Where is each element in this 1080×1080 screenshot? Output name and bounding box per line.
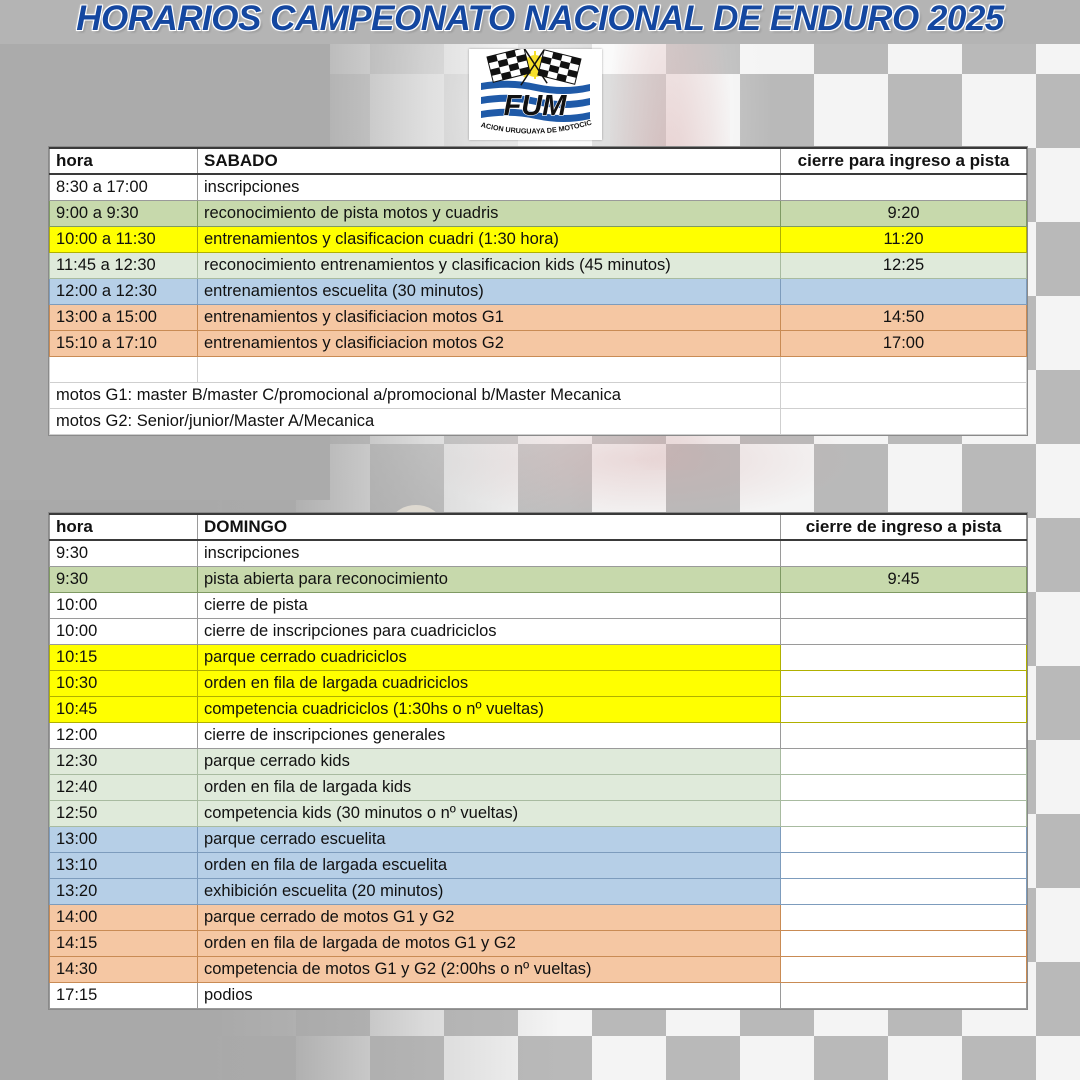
column-header-hora: hora [50, 514, 198, 540]
table-row: 13:20exhibición escuelita (20 minutos) [50, 878, 1027, 904]
table-row: 8:30 a 17:00 inscripciones [50, 174, 1027, 200]
cell-hora: 10:45 [50, 696, 198, 722]
table-row: 9:00 a 9:30 reconocimiento de pista moto… [50, 200, 1027, 226]
table-row: 14:00parque cerrado de motos G1 y G2 [50, 904, 1027, 930]
table-row: 12:00cierre de inscripciones generales [50, 722, 1027, 748]
cell-cierre [781, 956, 1027, 982]
cell-hora: 14:00 [50, 904, 198, 930]
column-header-hora: hora [50, 148, 198, 174]
cell-cierre: 11:20 [781, 226, 1027, 252]
cell-cierre [781, 618, 1027, 644]
cell-hora: 13:20 [50, 878, 198, 904]
table-header-row: hora DOMINGO cierre de ingreso a pista [50, 514, 1027, 540]
sabado-schedule-sheet: hora SABADO cierre para ingreso a pista … [48, 146, 1028, 436]
table-row: 15:10 a 17:10 entrenamientos y clasifici… [50, 330, 1027, 356]
cell-hora: 10:00 [50, 618, 198, 644]
cell-actividad: parque cerrado kids [198, 748, 781, 774]
cell-cierre [781, 696, 1027, 722]
cell-cierre [781, 774, 1027, 800]
note-row: motos G2: Senior/junior/Master A/Mecanic… [50, 408, 1027, 434]
table-row: 10:30orden en fila de largada cuadricicl… [50, 670, 1027, 696]
cell-cierre: 12:25 [781, 252, 1027, 278]
cell-hora: 9:30 [50, 566, 198, 592]
column-header-domingo: DOMINGO [198, 514, 781, 540]
table-row: 10:00cierre de inscripciones para cuadri… [50, 618, 1027, 644]
cell-actividad: reconocimiento entrenamientos y clasific… [198, 252, 781, 278]
cell-cierre [781, 174, 1027, 200]
cell-hora: 8:30 a 17:00 [50, 174, 198, 200]
cell-hora: 9:00 a 9:30 [50, 200, 198, 226]
sabado-schedule-table: hora SABADO cierre para ingreso a pista … [49, 147, 1027, 435]
cell-actividad: entrenamientos escuelita (30 minutos) [198, 278, 781, 304]
cell-cierre: 14:50 [781, 304, 1027, 330]
cell-actividad: competencia kids (30 minutos o nº vuelta… [198, 800, 781, 826]
column-header-cierre: cierre de ingreso a pista [781, 514, 1027, 540]
cell-hora: 15:10 a 17:10 [50, 330, 198, 356]
table-row: 9:30inscripciones [50, 540, 1027, 566]
table-spacer-row [50, 356, 1027, 382]
cell-cierre [781, 540, 1027, 566]
note-motos-g2: motos G2: Senior/junior/Master A/Mecanic… [50, 408, 781, 434]
cell-actividad: podios [198, 982, 781, 1008]
cell-hora: 9:30 [50, 540, 198, 566]
table-row: 11:45 a 12:30 reconocimiento entrenamien… [50, 252, 1027, 278]
cell-hora: 14:15 [50, 930, 198, 956]
cell-hora: 10:30 [50, 670, 198, 696]
column-header-sabado: SABADO [198, 148, 781, 174]
domingo-schedule-table: hora DOMINGO cierre de ingreso a pista 9… [49, 513, 1027, 1009]
cell-actividad: entrenamientos y clasificiacion motos G2 [198, 330, 781, 356]
note-filler [781, 382, 1027, 408]
cell-actividad: cierre de inscripciones para cuadriciclo… [198, 618, 781, 644]
cell-cierre [781, 852, 1027, 878]
cell-actividad: parque cerrado escuelita [198, 826, 781, 852]
cell-actividad [198, 356, 781, 382]
table-row: 13:00 a 15:00 entrenamientos y clasifici… [50, 304, 1027, 330]
cell-hora: 17:15 [50, 982, 198, 1008]
cell-actividad: competencia cuadriciclos (1:30hs o nº vu… [198, 696, 781, 722]
cell-actividad: orden en fila de largada cuadriciclos [198, 670, 781, 696]
cell-actividad: cierre de pista [198, 592, 781, 618]
cell-cierre [781, 826, 1027, 852]
table-row: 14:15orden en fila de largada de motos G… [50, 930, 1027, 956]
cell-actividad: orden en fila de largada de motos G1 y G… [198, 930, 781, 956]
cell-cierre: 9:45 [781, 566, 1027, 592]
cell-cierre: 17:00 [781, 330, 1027, 356]
cell-cierre [781, 722, 1027, 748]
cell-hora: 12:00 a 12:30 [50, 278, 198, 304]
cell-hora: 12:30 [50, 748, 198, 774]
cell-cierre [781, 670, 1027, 696]
table-row: 12:40orden en fila de largada kids [50, 774, 1027, 800]
cell-actividad: exhibición escuelita (20 minutos) [198, 878, 781, 904]
table-row: 12:30parque cerrado kids [50, 748, 1027, 774]
table-row: 14:30competencia de motos G1 y G2 (2:00h… [50, 956, 1027, 982]
cell-cierre [781, 982, 1027, 1008]
cell-cierre [781, 904, 1027, 930]
cell-actividad: pista abierta para reconocimiento [198, 566, 781, 592]
table-row: 12:00 a 12:30 entrenamientos escuelita (… [50, 278, 1027, 304]
fum-logo-graphic: FUM FEDERACION URUGUAYA DE MOTOCICLISMO [469, 49, 602, 140]
cell-actividad: entrenamientos y clasificacion cuadri (1… [198, 226, 781, 252]
cell-actividad: orden en fila de largada kids [198, 774, 781, 800]
cell-hora: 13:00 a 15:00 [50, 304, 198, 330]
cell-hora [50, 356, 198, 382]
table-row: 10:15parque cerrado cuadriciclos [50, 644, 1027, 670]
cell-cierre [781, 592, 1027, 618]
cell-actividad: parque cerrado cuadriciclos [198, 644, 781, 670]
cell-cierre [781, 356, 1027, 382]
table-row: 13:10orden en fila de largada escuelita [50, 852, 1027, 878]
table-row: 9:30pista abierta para reconocimiento9:4… [50, 566, 1027, 592]
cell-actividad: inscripciones [198, 540, 781, 566]
cell-hora: 14:30 [50, 956, 198, 982]
cell-actividad: reconocimiento de pista motos y cuadris [198, 200, 781, 226]
page-title: HORARIOS CAMPEONATO NACIONAL DE ENDURO 2… [0, 0, 1080, 40]
fum-logo: FUM FEDERACION URUGUAYA DE MOTOCICLISMO [469, 49, 602, 140]
cell-hora: 10:15 [50, 644, 198, 670]
cell-hora: 12:50 [50, 800, 198, 826]
table-row: 10:45competencia cuadriciclos (1:30hs o … [50, 696, 1027, 722]
cell-hora: 13:10 [50, 852, 198, 878]
cell-actividad: entrenamientos y clasificiacion motos G1 [198, 304, 781, 330]
table-header-row: hora SABADO cierre para ingreso a pista [50, 148, 1027, 174]
cell-cierre [781, 800, 1027, 826]
table-row: 13:00parque cerrado escuelita [50, 826, 1027, 852]
table-row: 17:15podios [50, 982, 1027, 1008]
cell-actividad: orden en fila de largada escuelita [198, 852, 781, 878]
svg-text:FUM: FUM [504, 90, 568, 122]
cell-actividad: cierre de inscripciones generales [198, 722, 781, 748]
cell-hora: 11:45 a 12:30 [50, 252, 198, 278]
cell-hora: 10:00 a 11:30 [50, 226, 198, 252]
cell-cierre [781, 644, 1027, 670]
table-row: 10:00cierre de pista [50, 592, 1027, 618]
note-filler [781, 408, 1027, 434]
cell-cierre [781, 930, 1027, 956]
cell-cierre [781, 748, 1027, 774]
cell-actividad: parque cerrado de motos G1 y G2 [198, 904, 781, 930]
cell-hora: 12:00 [50, 722, 198, 748]
table-row: 10:00 a 11:30 entrenamientos y clasifica… [50, 226, 1027, 252]
column-header-cierre: cierre para ingreso a pista [781, 148, 1027, 174]
note-row: motos G1: master B/master C/promocional … [50, 382, 1027, 408]
cell-hora: 12:40 [50, 774, 198, 800]
cell-hora: 10:00 [50, 592, 198, 618]
cell-actividad: competencia de motos G1 y G2 (2:00hs o n… [198, 956, 781, 982]
cell-actividad: inscripciones [198, 174, 781, 200]
cell-hora: 13:00 [50, 826, 198, 852]
note-motos-g1: motos G1: master B/master C/promocional … [50, 382, 781, 408]
cell-cierre [781, 878, 1027, 904]
domingo-schedule-sheet: hora DOMINGO cierre de ingreso a pista 9… [48, 512, 1028, 1010]
cell-cierre: 9:20 [781, 200, 1027, 226]
cell-cierre [781, 278, 1027, 304]
table-row: 12:50competencia kids (30 minutos o nº v… [50, 800, 1027, 826]
